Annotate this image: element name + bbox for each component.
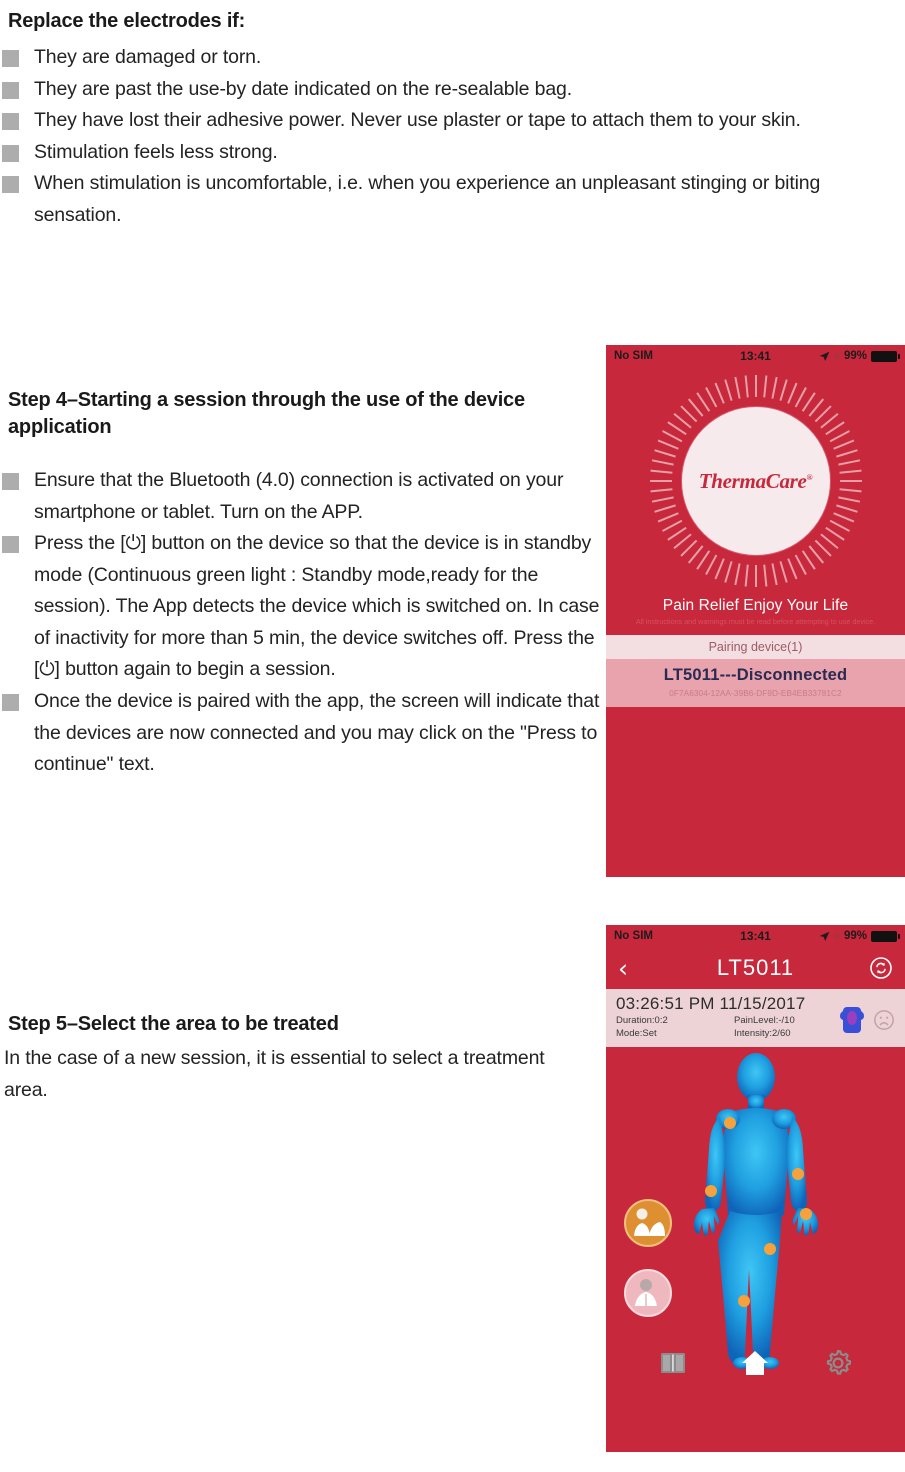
dial-tick [763, 375, 767, 397]
app-navbar: ‹ LT5011 [606, 947, 905, 989]
logo-circle: ThermaCare® [681, 406, 831, 556]
dial-tick [763, 564, 767, 586]
dial-tick [654, 449, 676, 457]
dial-ticks-decoration: ThermaCare® [650, 375, 862, 587]
sad-face-icon[interactable] [873, 1009, 895, 1031]
session-date: 11/15/2017 [720, 994, 806, 1013]
treatment-point-marker [705, 1185, 717, 1197]
dial-tick [714, 558, 724, 579]
list-item: Once the device is paired with the app, … [0, 686, 600, 781]
device-list-item[interactable]: LT5011---Disconnected 0F7A6304-12AA-39B6… [606, 659, 905, 707]
location-arrow-icon [819, 931, 830, 942]
square-bullet-icon [2, 145, 19, 162]
torso-back-icon [631, 1276, 665, 1310]
front-view-button[interactable] [624, 1199, 672, 1247]
dial-tick [714, 383, 724, 404]
list-item-text: They are damaged or torn. [34, 46, 261, 68]
dial-tick [650, 480, 672, 482]
dial-tick [662, 430, 682, 442]
battery-percent-label: 99% [844, 930, 867, 942]
phone-screenshot-pairing: No SIM 13:41 99% ThermaCare® Pain Relief… [606, 345, 905, 877]
tab-home[interactable] [740, 1348, 770, 1378]
dial-tick [838, 459, 860, 465]
dial-tick [650, 488, 672, 492]
device-uuid-label: 0F7A6304-12AA-39B6-DF9D-EB4EB33781C2 [606, 689, 905, 698]
dial-tick [724, 379, 732, 401]
list-item-text: When stimulation is uncomfortable, i.e. … [34, 172, 820, 226]
list-item: Stimulation feels less strong. [0, 137, 900, 169]
square-bullet-icon [2, 694, 19, 711]
session-intensity: Intensity:2/60 [734, 1028, 795, 1041]
body-diagram-stage[interactable] [606, 1047, 905, 1389]
back-view-button[interactable] [624, 1269, 672, 1317]
session-datetime: 03:26:51 PM 11/15/2017 [616, 994, 839, 1014]
dial-tick [657, 440, 678, 450]
replace-electrodes-list: They are damaged or torn. They are past … [0, 42, 900, 231]
list-item: They are past the use-by date indicated … [0, 74, 900, 106]
disclaimer-text: All instructions and warnings must be re… [606, 618, 905, 627]
brand-logo-text: ThermaCare® [699, 469, 813, 494]
dial-tick [651, 459, 673, 465]
step4-heading: Step 4–Starting a session through the us… [4, 381, 564, 441]
home-icon [741, 1350, 769, 1376]
dial-tick [839, 488, 861, 492]
battery-percent-label: 99% [844, 350, 867, 362]
list-item-text: Ensure that the Bluetooth (4.0) connecti… [34, 469, 563, 523]
pairing-device-header: Pairing device(1) [606, 635, 905, 659]
step4-list: Ensure that the Bluetooth (4.0) connecti… [0, 465, 600, 781]
dial-tick [651, 496, 673, 502]
dial-tick [734, 563, 740, 585]
square-bullet-icon [2, 473, 19, 490]
dial-tick [838, 496, 860, 502]
dial-tick [654, 504, 676, 512]
dial-tick [755, 565, 757, 587]
treatment-point-marker [792, 1168, 804, 1180]
replace-electrodes-heading: Replace the electrodes if: [4, 2, 884, 35]
list-item-text: Press the [⏻] button on the device so th… [34, 532, 599, 680]
status-bar: No SIM 13:41 99% [606, 925, 905, 947]
status-bar: No SIM 13:41 99% [606, 345, 905, 367]
dial-tick [650, 470, 672, 474]
square-bullet-icon [2, 176, 19, 193]
dial-tick [829, 430, 849, 442]
gear-icon [825, 1350, 851, 1376]
square-bullet-icon [2, 113, 19, 130]
electrode-pad-icon[interactable] [839, 1006, 865, 1034]
dial-tick [779, 561, 787, 583]
treatment-point-marker [800, 1208, 812, 1220]
list-item: When stimulation is uncomfortable, i.e. … [0, 168, 900, 231]
treatment-point-marker [738, 1295, 750, 1307]
list-item: Press the [⏻] button on the device so th… [0, 528, 600, 686]
dial-tick [839, 470, 861, 474]
dial-tick [833, 440, 854, 450]
dial-tick [724, 561, 732, 583]
dial-tick [836, 449, 858, 457]
dial-tick [744, 375, 748, 397]
phone-screenshot-body-select: No SIM 13:41 99% ‹ LT5011 03:26:51 PM 11… [606, 925, 905, 1452]
torso-front-icon [631, 1206, 665, 1240]
list-item-text: Stimulation feels less strong. [34, 141, 278, 163]
dial-tick [734, 377, 740, 399]
square-bullet-icon [2, 82, 19, 99]
dial-tick [836, 504, 858, 512]
dial-tick [755, 375, 757, 397]
dial-tick [705, 555, 717, 575]
dial-tick [744, 564, 748, 586]
session-duration: Duration:0:2 [616, 1015, 734, 1028]
status-dot-icon [834, 353, 840, 359]
list-item: Ensure that the Bluetooth (4.0) connecti… [0, 465, 600, 528]
step5-body-text: In the case of a new session, it is esse… [0, 1043, 590, 1106]
treatment-point-marker [764, 1243, 776, 1255]
dial-tick [833, 512, 854, 522]
session-pain-level: PainLevel:-/10 [734, 1015, 795, 1028]
list-item-text: They have lost their adhesive power. Nev… [34, 109, 801, 131]
bottom-tabbar [606, 1337, 905, 1389]
tagline-text: Pain Relief Enjoy Your Life [606, 597, 905, 615]
square-bullet-icon [2, 50, 19, 67]
battery-full-icon [871, 931, 897, 942]
tab-settings[interactable] [823, 1348, 853, 1378]
session-mode: Mode:Set [616, 1028, 734, 1041]
list-item: They are damaged or torn. [0, 42, 900, 74]
dial-tick [657, 512, 678, 522]
list-item-text: They are past the use-by date indicated … [34, 78, 572, 100]
list-item: They have lost their adhesive power. Nev… [0, 105, 900, 137]
dial-tick [787, 558, 797, 579]
dial-tick [771, 377, 777, 399]
treatment-point-marker [724, 1117, 736, 1129]
step5-heading: Step 5–Select the area to be treated [4, 1005, 564, 1038]
location-arrow-icon [819, 351, 830, 362]
status-dot-icon [834, 933, 840, 939]
session-info-panel: 03:26:51 PM 11/15/2017 Duration:0:2 Mode… [606, 989, 905, 1047]
battery-full-icon [871, 351, 897, 362]
brand-logo-area: ThermaCare® [606, 367, 905, 595]
dial-tick [779, 379, 787, 401]
dial-tick [787, 383, 797, 404]
list-item-text: Once the device is paired with the app, … [34, 690, 599, 775]
square-bullet-icon [2, 536, 19, 553]
navbar-title: LT5011 [606, 955, 905, 981]
session-time: 03:26:51 PM [616, 994, 715, 1013]
tab-library[interactable] [658, 1348, 688, 1378]
dial-tick [771, 563, 777, 585]
device-name-label: LT5011---Disconnected [606, 666, 905, 685]
dial-tick [840, 480, 862, 482]
human-body-front-diagram[interactable] [666, 1051, 846, 1381]
book-icon [660, 1352, 686, 1374]
refresh-circle-icon[interactable] [869, 956, 893, 980]
dial-tick [794, 555, 806, 575]
